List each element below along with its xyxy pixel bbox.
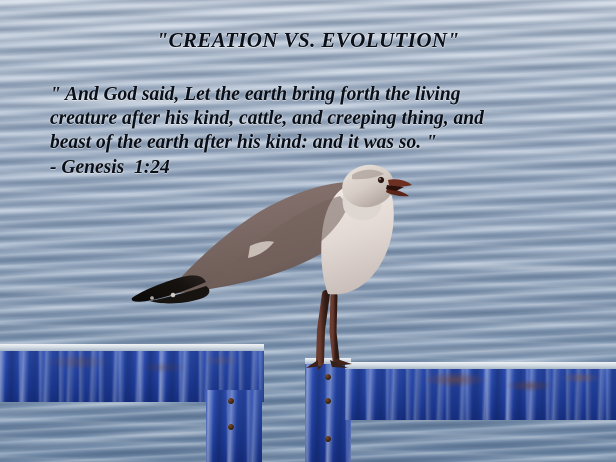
verse-line-1: " And God said, Let the earth bring fort… xyxy=(50,83,580,107)
gull-primary-mirror xyxy=(150,296,154,300)
gull-beak-upper xyxy=(388,179,412,186)
verse-line-2: creature after his kind, cattle, and cre… xyxy=(50,107,580,131)
verse-attribution: - Genesis 1:24 xyxy=(50,156,580,180)
seagull xyxy=(0,0,616,462)
photo-canvas: "CREATION VS. EVOLUTION" " And God said,… xyxy=(0,0,616,462)
scripture-quote: " And God said, Let the earth bring fort… xyxy=(50,83,580,180)
gull-primary-mirror xyxy=(171,293,176,298)
gull-legs xyxy=(306,294,352,370)
page-title: "CREATION VS. EVOLUTION" xyxy=(0,28,616,53)
verse-line-3: beast of the earth after his kind: and i… xyxy=(50,131,580,155)
